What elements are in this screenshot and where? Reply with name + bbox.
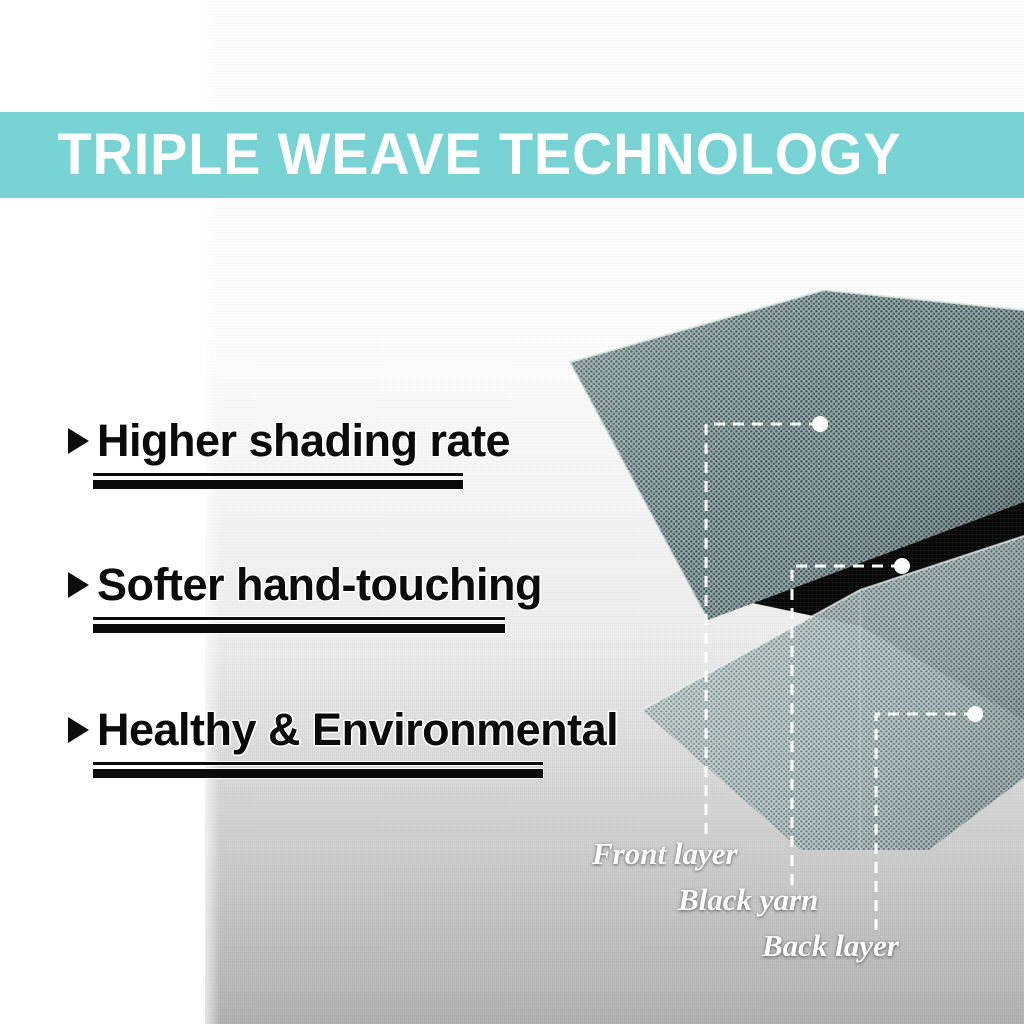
callout-label-back-layer: Back layer bbox=[762, 930, 899, 961]
feature-label: Higher shading rate bbox=[97, 418, 510, 463]
feature-label: Softer hand-touching bbox=[97, 562, 542, 607]
feature-underline-thin bbox=[93, 762, 543, 765]
triangle-right-icon bbox=[68, 428, 89, 454]
triangle-right-icon bbox=[68, 572, 89, 598]
feature-item-2: Softer hand-touching bbox=[68, 562, 542, 633]
feature-underline-thin bbox=[93, 617, 505, 620]
feature-underline-thin bbox=[93, 473, 463, 476]
feature-underline bbox=[93, 762, 543, 778]
feature-underline bbox=[93, 473, 463, 489]
feature-item-3: Healthy & Environmental bbox=[68, 707, 618, 778]
feature-underline-thick bbox=[93, 480, 463, 489]
headline-banner: TRIPLE WEAVE TECHNOLOGY bbox=[0, 112, 1024, 198]
feature-underline-thick bbox=[93, 769, 543, 778]
headline-title: TRIPLE WEAVE TECHNOLOGY bbox=[0, 126, 902, 184]
feature-label: Healthy & Environmental bbox=[97, 707, 618, 752]
callout-label-front-layer: Front layer bbox=[592, 838, 738, 869]
triangle-right-icon bbox=[68, 717, 89, 743]
triple-weave-layer-diagram bbox=[560, 290, 1024, 850]
feature-underline-thick bbox=[93, 624, 505, 633]
product-infographic: TRIPLE WEAVE TECHNOLOGY Higher shading r… bbox=[0, 0, 1024, 1024]
callout-label-black-yarn: Black yarn bbox=[678, 884, 818, 915]
feature-underline bbox=[93, 617, 505, 633]
feature-item-1: Higher shading rate bbox=[68, 418, 510, 489]
